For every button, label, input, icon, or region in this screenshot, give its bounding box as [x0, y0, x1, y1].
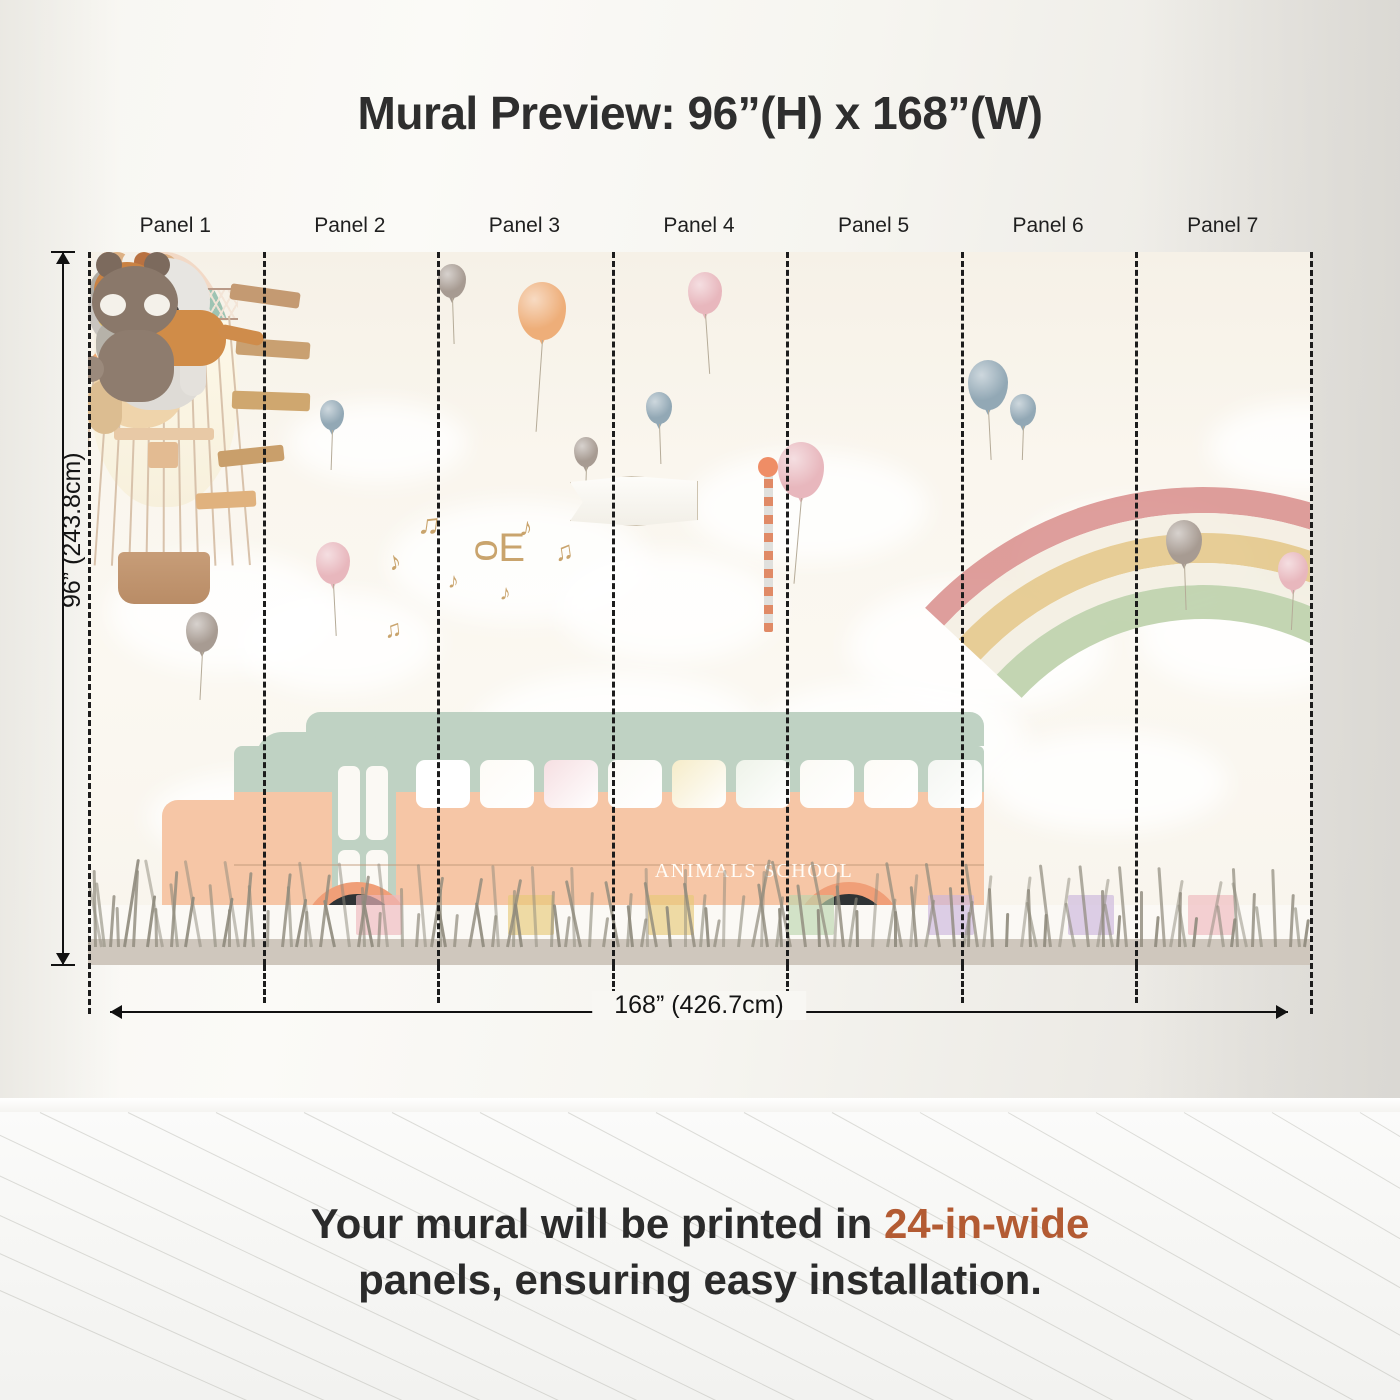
mural-artwork: ♪♫♪♫ᴑE♪♫♪ — [88, 252, 1310, 965]
balloon-blue-mid — [646, 392, 672, 424]
bus-window-1 — [416, 760, 470, 808]
music-note-8: ♪ — [499, 581, 512, 604]
balloon-bulb — [688, 272, 722, 314]
bus-roof — [306, 712, 984, 746]
panel-divider-3 — [612, 252, 615, 965]
balloon-blue-pair-large — [968, 360, 1008, 410]
grass-blade — [266, 910, 270, 947]
panel-tick-1 — [263, 965, 266, 1003]
panel-divider-5 — [961, 252, 964, 965]
balloon-bulb — [646, 392, 672, 424]
width-dimension-line: 168” (426.7cm) — [110, 1011, 1288, 1013]
balloon-taupe-mid — [574, 437, 598, 467]
cloud — [238, 592, 438, 692]
panel-tick-6 — [1135, 965, 1138, 1003]
flag-pole — [764, 470, 773, 632]
streamer-3 — [232, 391, 311, 412]
balloon-plate — [114, 428, 214, 440]
footer-line-1: Your mural will be printed in 24-in-wide — [0, 1196, 1400, 1252]
mural-preview[interactable]: ♪♫♪♫ᴑE♪♫♪ — [88, 252, 1310, 965]
balloon-bulb — [518, 282, 566, 340]
bus-window-8 — [864, 760, 918, 808]
balloon-basket — [118, 552, 210, 604]
balloon-string — [1022, 426, 1024, 460]
balloon-bulb — [186, 612, 218, 652]
balloon-blue-pair-small — [1010, 394, 1036, 426]
bus-window-5 — [672, 760, 726, 808]
height-dimension-label: 96” (243.8cm) — [58, 452, 87, 608]
balloon-bulb — [316, 542, 350, 584]
balloon-pink-far-right — [1278, 552, 1308, 590]
grass-blade — [894, 911, 897, 947]
mural-edge-right — [1310, 252, 1313, 1014]
bus-window-9 — [928, 760, 982, 808]
ground-color-block-4 — [788, 895, 834, 935]
cloud — [1208, 402, 1310, 492]
balloon-string — [452, 298, 455, 344]
balloon-bulb — [1166, 520, 1202, 564]
balloon-string — [705, 314, 710, 374]
panel-divider-6 — [1135, 252, 1138, 965]
panel-divider-2 — [437, 252, 440, 965]
footer-caption: Your mural will be printed in 24-in-wide… — [0, 1196, 1400, 1308]
balloon-taupe-right — [1166, 520, 1202, 564]
bus-window-2 — [480, 760, 534, 808]
cloud — [558, 552, 778, 662]
balloon-bulb — [1010, 394, 1036, 426]
balloon-taupe-upper — [438, 264, 466, 298]
balloon-bulb — [320, 400, 344, 430]
panel-label-5: Panel 5 — [786, 214, 961, 238]
cloud — [288, 402, 468, 482]
grass-blade — [1140, 891, 1143, 947]
balloon-bulb — [438, 264, 466, 298]
panel-divider-4 — [786, 252, 789, 965]
panel-tick-5 — [961, 965, 964, 1003]
bus-window-7 — [800, 760, 854, 808]
balloon-string — [988, 410, 992, 460]
panel-label-1: Panel 1 — [88, 214, 263, 238]
page-title: Mural Preview: 96”(H) x 168”(W) — [0, 86, 1400, 140]
panel-label-2: Panel 2 — [263, 214, 438, 238]
panel-label-3: Panel 3 — [437, 214, 612, 238]
balloon-taupe-lower-left — [186, 612, 218, 652]
balloon-bulb — [968, 360, 1008, 410]
width-dimension-label: 168” (426.7cm) — [592, 991, 806, 1020]
balloon-bulb — [574, 437, 598, 467]
music-note-3: ♪ — [447, 570, 460, 593]
flag-pole-finial — [758, 457, 778, 477]
balloon-string — [659, 424, 662, 464]
balloon-bulb — [1278, 552, 1308, 590]
banner-flag — [570, 476, 698, 526]
balloon-pink-right — [778, 442, 824, 498]
cloud — [988, 732, 1228, 832]
balloon-blue-small-left — [320, 400, 344, 430]
balloon-pink-left — [316, 542, 350, 584]
balloon-peach-large — [518, 282, 566, 340]
music-note-5: ᴑE — [474, 528, 525, 568]
grass-blade — [855, 910, 859, 947]
grass-blade — [154, 908, 158, 947]
balloon-string — [536, 340, 544, 432]
balloon-bulb — [778, 442, 824, 498]
footer-line-2: panels, ensuring easy installation. — [0, 1252, 1400, 1308]
footer-prefix: Your mural will be printed in — [311, 1200, 884, 1247]
panel-label-4: Panel 4 — [612, 214, 787, 238]
panel-divider-1 — [263, 252, 266, 965]
bus-window-4 — [608, 760, 662, 808]
bus-window-3 — [544, 760, 598, 808]
panel-label-7: Panel 7 — [1135, 214, 1310, 238]
panel-label-6: Panel 6 — [961, 214, 1136, 238]
bus-window-6 — [736, 760, 790, 808]
panel-tick-2 — [437, 965, 440, 1003]
footer-highlight: 24-in-wide — [884, 1200, 1089, 1247]
music-note-4: ♫ — [383, 617, 403, 643]
balloon-burner — [148, 442, 178, 468]
height-dimension-line: 96” (243.8cm) — [62, 252, 64, 965]
streamer-5 — [196, 490, 257, 509]
mural-edge-left — [88, 252, 91, 1014]
music-note-7: ♫ — [552, 537, 575, 565]
balloon-pink-upper — [688, 272, 722, 314]
